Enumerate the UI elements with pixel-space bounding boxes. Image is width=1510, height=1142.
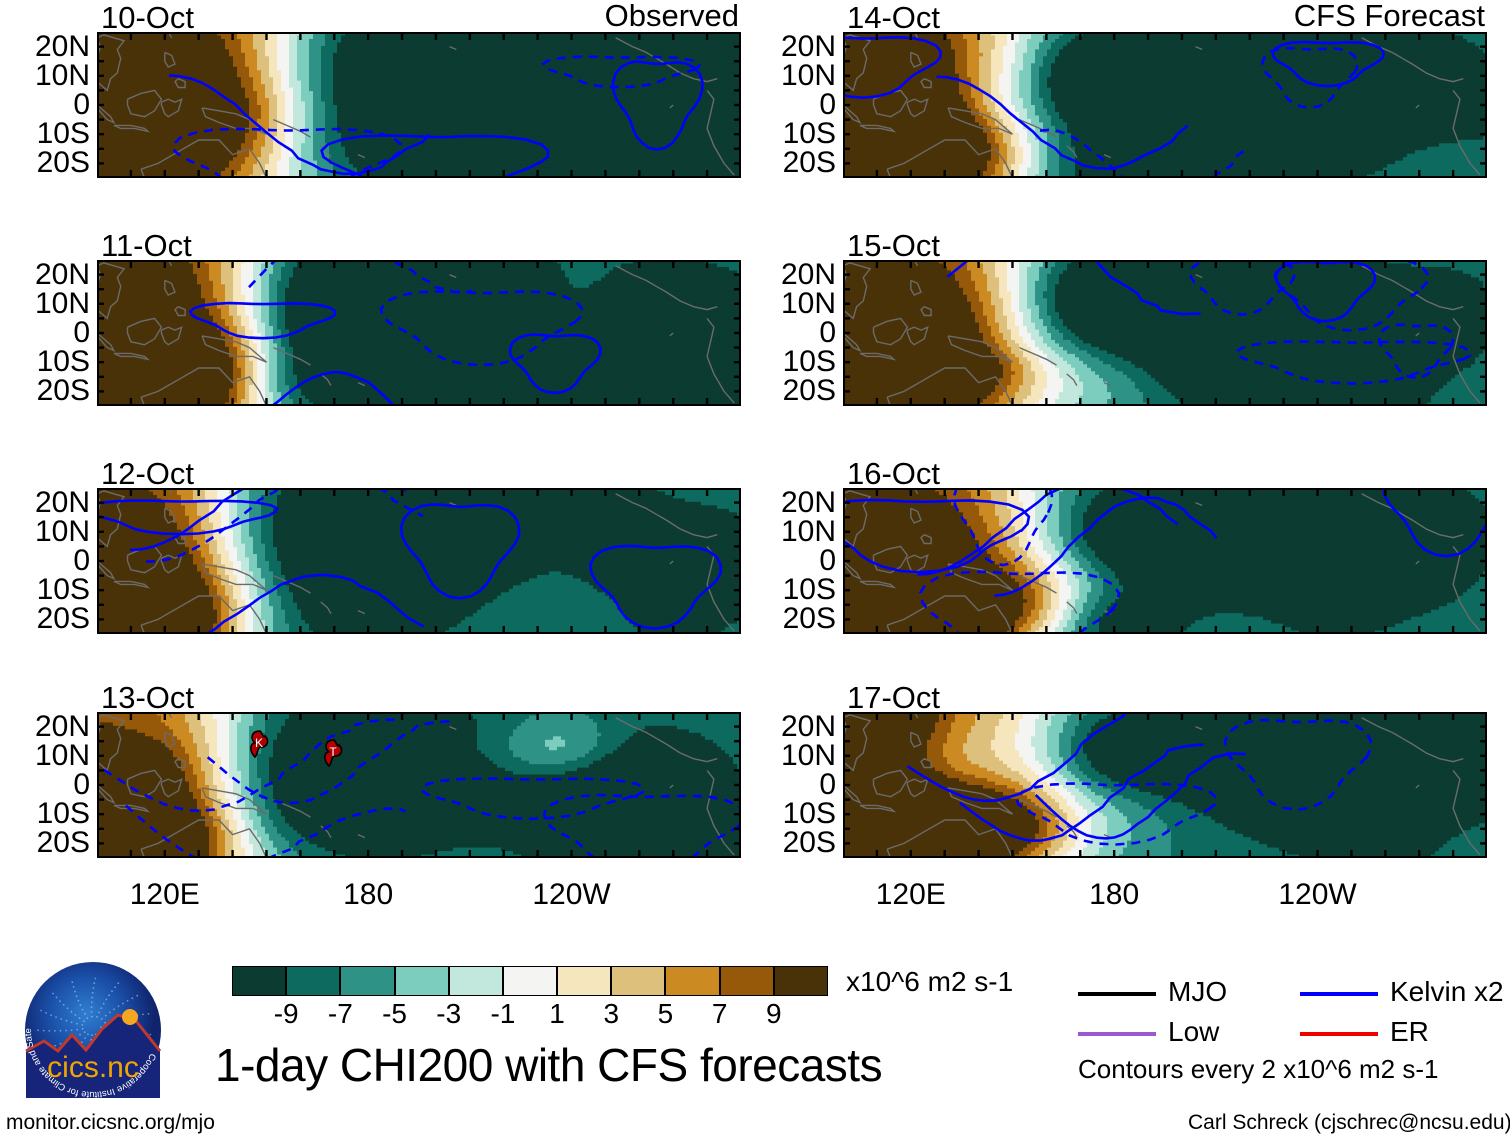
y-axis-tick-label: 10S: [2, 119, 90, 149]
x-axis-tick-label: 180: [1044, 880, 1184, 910]
legend-line-swatch: [1078, 992, 1156, 996]
colorbar-swatch: [232, 966, 286, 996]
x-axis-tick-label: 120E: [95, 880, 235, 910]
svg-text:cics.nc: cics.nc: [47, 1051, 139, 1084]
map-panel-11-oct: [97, 260, 741, 406]
y-axis-tick-label: 0: [2, 318, 90, 348]
y-axis-tick-label: 0: [2, 546, 90, 576]
y-axis-tick-label: 0: [2, 90, 90, 120]
colorbar-swatch: [340, 966, 394, 996]
legend-label: MJO: [1168, 978, 1227, 1006]
y-axis-tick-label: 10N: [2, 517, 90, 547]
legend-line-swatch: [1300, 1032, 1378, 1036]
y-axis-tick-label: 20N: [748, 488, 836, 518]
map-panel-13-oct: [97, 712, 741, 858]
y-axis-tick-label: 20S: [748, 148, 836, 178]
panel-date-16-oct: 16-Oct: [847, 458, 940, 489]
y-axis-tick-label: 10N: [2, 289, 90, 319]
map-panel-17-oct: [843, 712, 1487, 858]
y-axis-tick-label: 20S: [2, 148, 90, 178]
y-axis-tick-label: 10S: [2, 347, 90, 377]
y-axis-tick-label: 0: [748, 770, 836, 800]
mjo-chi200-figure: 10-Oct20N10N010S20SObserved11-Oct20N10N0…: [0, 0, 1510, 1142]
panel-date-13-oct: 13-Oct: [101, 682, 194, 713]
y-axis-tick-label: 20N: [2, 32, 90, 62]
y-axis-tick-label: 0: [748, 546, 836, 576]
colorbar-swatch: [774, 966, 828, 996]
colorbar-swatch: [395, 966, 449, 996]
y-axis-tick-label: 20N: [748, 712, 836, 742]
svg-text:K: K: [255, 736, 263, 750]
main-title: 1-day CHI200 with CFS forecasts: [215, 1042, 882, 1088]
legend-label: ER: [1390, 1018, 1429, 1046]
column-header-observed: Observed: [321, 0, 739, 31]
y-axis-tick-label: 10S: [748, 119, 836, 149]
panel-date-12-oct: 12-Oct: [101, 458, 194, 489]
y-axis-tick-label: 0: [748, 90, 836, 120]
colorbar-swatch: [286, 966, 340, 996]
map-panel-10-oct: [97, 32, 741, 178]
y-axis-tick-label: 10N: [748, 61, 836, 91]
colorbar-swatch: [665, 966, 719, 996]
cicsnc-logo: Cooperative Institute for Climate and Sa…: [18, 955, 168, 1105]
y-axis-tick-label: 20N: [2, 260, 90, 290]
footer-url[interactable]: monitor.cicsnc.org/mjo: [6, 1112, 215, 1133]
y-axis-tick-label: 0: [748, 318, 836, 348]
y-axis-tick-label: 10N: [2, 741, 90, 771]
map-panel-12-oct: [97, 488, 741, 634]
y-axis-tick-label: 20S: [748, 376, 836, 406]
legend-label: Kelvin x2: [1390, 978, 1504, 1006]
y-axis-tick-label: 10S: [748, 799, 836, 829]
colorbar-units-label: x10^6 m2 s-1: [846, 968, 1013, 996]
legend-line-swatch: [1078, 1032, 1156, 1036]
footer-author-contact[interactable]: Carl Schreck (cjschrec@ncsu.edu): [1188, 1112, 1510, 1133]
y-axis-tick-label: 10N: [748, 741, 836, 771]
colorbar-tick-label: 9: [734, 1000, 814, 1028]
y-axis-tick-label: 0: [2, 770, 90, 800]
y-axis-tick-label: 20N: [748, 32, 836, 62]
y-axis-tick-label: 10N: [2, 61, 90, 91]
y-axis-tick-label: 20N: [748, 260, 836, 290]
legend-label: Low: [1168, 1018, 1219, 1046]
y-axis-tick-label: 20S: [2, 828, 90, 858]
map-panel-16-oct: [843, 488, 1487, 634]
colorbar-swatch: [503, 966, 557, 996]
contour-interval-note: Contours every 2 x10^6 m2 s-1: [1078, 1056, 1438, 1082]
y-axis-tick-label: 10N: [748, 289, 836, 319]
y-axis-tick-label: 20S: [2, 604, 90, 634]
x-axis-tick-label: 120W: [502, 880, 642, 910]
x-axis-tick-label: 120W: [1248, 880, 1388, 910]
colorbar-swatch: [611, 966, 665, 996]
map-panel-15-oct: [843, 260, 1487, 406]
colorbar-swatch: [720, 966, 774, 996]
y-axis-tick-label: 20S: [748, 604, 836, 634]
panel-date-10-oct: 10-Oct: [101, 2, 194, 33]
map-panel-14-oct: [843, 32, 1487, 178]
y-axis-tick-label: 20N: [2, 488, 90, 518]
tropical-cyclone-icon: K: [246, 727, 274, 761]
y-axis-tick-label: 10S: [748, 575, 836, 605]
y-axis-tick-label: 10S: [748, 347, 836, 377]
panel-date-14-oct: 14-Oct: [847, 2, 940, 33]
x-axis-tick-label: 180: [298, 880, 438, 910]
colorbar-swatch: [557, 966, 611, 996]
column-header-forecast: CFS Forecast: [1067, 0, 1485, 31]
y-axis-tick-label: 20S: [2, 376, 90, 406]
y-axis-tick-label: 10S: [2, 575, 90, 605]
tropical-cyclone-icon: T: [320, 736, 348, 770]
panel-date-11-oct: 11-Oct: [101, 230, 192, 261]
legend-line-swatch: [1300, 992, 1378, 996]
colorbar-swatch: [449, 966, 503, 996]
y-axis-tick-label: 20S: [748, 828, 836, 858]
y-axis-tick-label: 10N: [748, 517, 836, 547]
y-axis-tick-label: 20N: [2, 712, 90, 742]
svg-text:T: T: [330, 745, 338, 759]
panel-date-17-oct: 17-Oct: [847, 682, 940, 713]
y-axis-tick-label: 10S: [2, 799, 90, 829]
panel-date-15-oct: 15-Oct: [847, 230, 940, 261]
x-axis-tick-label: 120E: [841, 880, 981, 910]
